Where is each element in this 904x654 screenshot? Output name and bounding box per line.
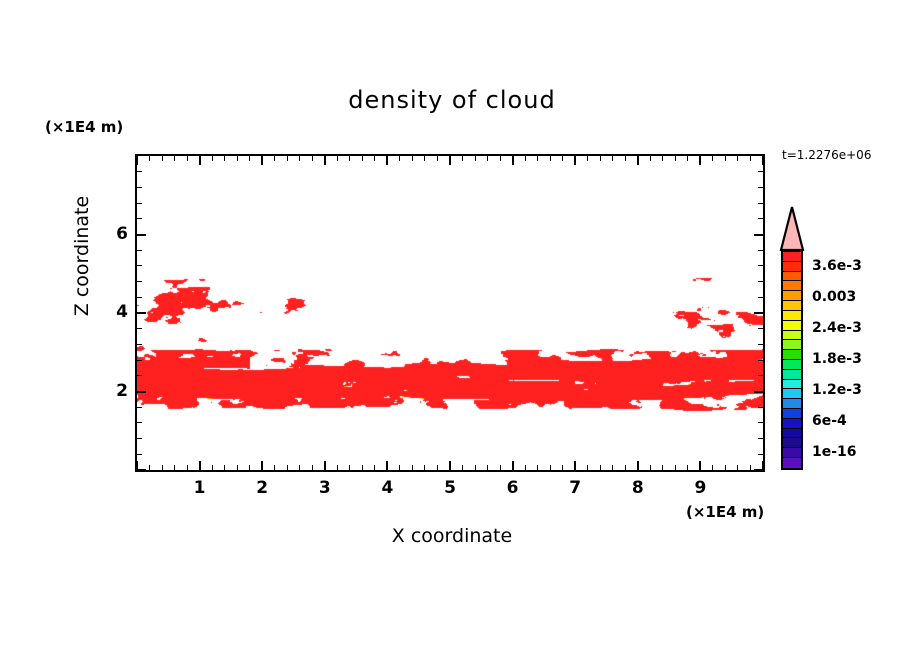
tick-mark (199, 461, 201, 470)
tick-mark (487, 465, 488, 470)
tick-mark (500, 156, 501, 161)
tick-mark (412, 156, 413, 161)
tick-mark (758, 438, 763, 439)
tick-mark (750, 156, 751, 161)
tick-mark (137, 187, 142, 188)
colorbar-band (783, 429, 801, 439)
tick-mark (650, 465, 651, 470)
tick-mark (224, 156, 225, 161)
tick-mark (137, 438, 142, 439)
tick-mark (462, 465, 463, 470)
tick-mark (699, 156, 701, 165)
colorbar-band (783, 321, 801, 331)
tick-mark (199, 156, 201, 165)
tick-mark (137, 297, 142, 298)
tick-mark (374, 156, 375, 161)
colorbar-tick-label: 6e-4 (812, 413, 847, 429)
tick-mark (187, 465, 188, 470)
tick-mark (550, 465, 551, 470)
tick-mark (754, 469, 763, 471)
tick-mark (437, 465, 438, 470)
tick-mark (662, 156, 663, 161)
tick-mark (758, 218, 763, 219)
tick-mark (437, 156, 438, 161)
colorbar-tick-label: 1.8e-3 (812, 351, 862, 367)
colorbar-band (783, 409, 801, 419)
tick-mark (675, 465, 676, 470)
tick-mark (261, 461, 263, 470)
colorbar-band (783, 370, 801, 380)
tick-mark (137, 454, 142, 455)
tick-mark (625, 156, 626, 161)
x-tick-label: 3 (305, 478, 345, 498)
colorbar-band (783, 291, 801, 301)
tick-mark (274, 156, 275, 161)
tick-mark (137, 312, 146, 314)
x-tick-label: 6 (493, 478, 533, 498)
tick-mark (386, 461, 388, 470)
tick-mark (758, 454, 763, 455)
colorbar-band (783, 448, 801, 458)
x-tick-label: 8 (618, 478, 658, 498)
tick-mark (500, 465, 501, 470)
colorbar-band (783, 380, 801, 390)
colorbar-band (783, 340, 801, 350)
tick-mark (237, 156, 238, 161)
tick-mark (462, 156, 463, 161)
x-tick-label: 1 (180, 478, 220, 498)
tick-mark (637, 156, 639, 165)
tick-mark (725, 156, 726, 161)
tick-mark (625, 465, 626, 470)
tick-mark (399, 465, 400, 470)
tick-mark (537, 156, 538, 161)
tick-mark (362, 465, 363, 470)
tick-mark (512, 156, 514, 165)
tick-mark (762, 156, 764, 165)
tick-mark (274, 465, 275, 470)
tick-mark (737, 465, 738, 470)
y-tick-label: 2 (88, 381, 128, 401)
colorbar-band (783, 438, 801, 448)
tick-mark (362, 156, 363, 161)
colorbar-tick-label: 1.2e-3 (812, 382, 862, 398)
tick-mark (137, 218, 142, 219)
tick-mark (137, 422, 142, 423)
tick-mark (212, 156, 213, 161)
tick-mark (137, 234, 146, 236)
tick-mark (374, 465, 375, 470)
tick-mark (287, 156, 288, 161)
tick-mark (758, 407, 763, 408)
x-tick-label: 9 (680, 478, 720, 498)
time-annotation: t=1.2276e+06 (782, 148, 871, 162)
tick-mark (675, 156, 676, 161)
tick-mark (550, 156, 551, 161)
y-tick-label: 6 (88, 224, 128, 244)
tick-mark (337, 156, 338, 161)
tick-mark (137, 360, 142, 361)
tick-mark (758, 297, 763, 298)
tick-mark (725, 465, 726, 470)
tick-mark (137, 328, 142, 329)
colorbar-band (783, 399, 801, 409)
tick-mark (574, 156, 576, 165)
tick-mark (299, 465, 300, 470)
y-axis-unit-label: (×1E4 m) (45, 118, 123, 136)
tick-mark (758, 328, 763, 329)
tick-mark (162, 156, 163, 161)
colorbar-band (783, 331, 801, 341)
tick-mark (137, 171, 142, 172)
colorbar-band (783, 252, 801, 262)
tick-mark (249, 156, 250, 161)
tick-mark (224, 465, 225, 470)
tick-mark (287, 465, 288, 470)
tick-mark (424, 156, 425, 161)
colorbar-band (783, 419, 801, 429)
tick-mark (758, 265, 763, 266)
tick-mark (136, 156, 138, 165)
contour-field (137, 156, 763, 470)
tick-mark (699, 461, 701, 470)
tick-mark (137, 265, 142, 266)
colorbar-overflow-arrow-icon (779, 205, 805, 251)
tick-mark (754, 234, 763, 236)
tick-mark (237, 465, 238, 470)
tick-mark (562, 465, 563, 470)
tick-mark (349, 156, 350, 161)
x-tick-label: 5 (430, 478, 470, 498)
tick-mark (149, 156, 150, 161)
tick-mark (712, 465, 713, 470)
x-axis-title: X coordinate (0, 525, 904, 547)
tick-mark (525, 156, 526, 161)
tick-mark (512, 461, 514, 470)
tick-mark (712, 156, 713, 161)
tick-mark (137, 407, 142, 408)
tick-mark (299, 156, 300, 161)
tick-mark (137, 469, 146, 471)
colorbar-tick-label: 2.4e-3 (812, 320, 862, 336)
tick-mark (162, 465, 163, 470)
tick-mark (750, 465, 751, 470)
colorbar-band (783, 262, 801, 272)
tick-mark (187, 156, 188, 161)
tick-mark (212, 465, 213, 470)
tick-mark (758, 187, 763, 188)
tick-mark (600, 156, 601, 161)
tick-mark (487, 156, 488, 161)
tick-mark (612, 156, 613, 161)
tick-mark (261, 156, 263, 165)
tick-mark (687, 156, 688, 161)
tick-mark (758, 281, 763, 282)
x-axis-unit-label: (×1E4 m) (686, 503, 764, 521)
tick-mark (737, 156, 738, 161)
colorbar-band (783, 281, 801, 291)
tick-mark (637, 461, 639, 470)
tick-mark (475, 465, 476, 470)
colorbar (781, 250, 803, 470)
tick-mark (137, 281, 142, 282)
tick-mark (449, 156, 451, 165)
tick-mark (537, 465, 538, 470)
colorbar-band (783, 301, 801, 311)
tick-mark (758, 375, 763, 376)
colorbar-band (783, 311, 801, 321)
x-tick-label: 2 (242, 478, 282, 498)
tick-mark (687, 465, 688, 470)
tick-mark (449, 461, 451, 470)
tick-mark (424, 465, 425, 470)
tick-mark (349, 465, 350, 470)
tick-mark (758, 171, 763, 172)
tick-mark (758, 250, 763, 251)
tick-mark (754, 312, 763, 314)
tick-mark (312, 465, 313, 470)
tick-mark (412, 465, 413, 470)
tick-mark (475, 156, 476, 161)
tick-mark (137, 203, 142, 204)
tick-mark (758, 344, 763, 345)
page-title: density of cloud (0, 86, 904, 114)
colorbar-band (783, 272, 801, 282)
contour-plot-area (135, 154, 765, 472)
tick-mark (525, 465, 526, 470)
tick-mark (587, 156, 588, 161)
tick-mark (574, 461, 576, 470)
y-tick-label: 4 (88, 302, 128, 322)
colorbar-tick-label: 3.6e-3 (812, 258, 862, 274)
tick-mark (612, 465, 613, 470)
tick-mark (758, 422, 763, 423)
tick-mark (249, 465, 250, 470)
tick-mark (174, 156, 175, 161)
colorbar-tick-label: 0.003 (812, 289, 856, 305)
tick-mark (174, 465, 175, 470)
tick-mark (137, 250, 142, 251)
tick-mark (386, 156, 388, 165)
tick-mark (399, 156, 400, 161)
tick-mark (137, 375, 142, 376)
tick-mark (337, 465, 338, 470)
tick-mark (662, 465, 663, 470)
tick-mark (587, 465, 588, 470)
x-tick-label: 4 (367, 478, 407, 498)
tick-mark (137, 391, 146, 393)
colorbar-tick-label: 1e-16 (812, 444, 857, 460)
colorbar-band (783, 389, 801, 399)
tick-mark (149, 465, 150, 470)
tick-mark (754, 391, 763, 393)
tick-mark (600, 465, 601, 470)
tick-mark (137, 344, 142, 345)
x-tick-label: 7 (555, 478, 595, 498)
tick-mark (758, 360, 763, 361)
tick-mark (650, 156, 651, 161)
tick-mark (312, 156, 313, 161)
colorbar-band (783, 458, 801, 468)
tick-mark (324, 156, 326, 165)
colorbar-band (783, 360, 801, 370)
tick-mark (758, 203, 763, 204)
tick-mark (562, 156, 563, 161)
colorbar-band (783, 350, 801, 360)
tick-mark (324, 461, 326, 470)
